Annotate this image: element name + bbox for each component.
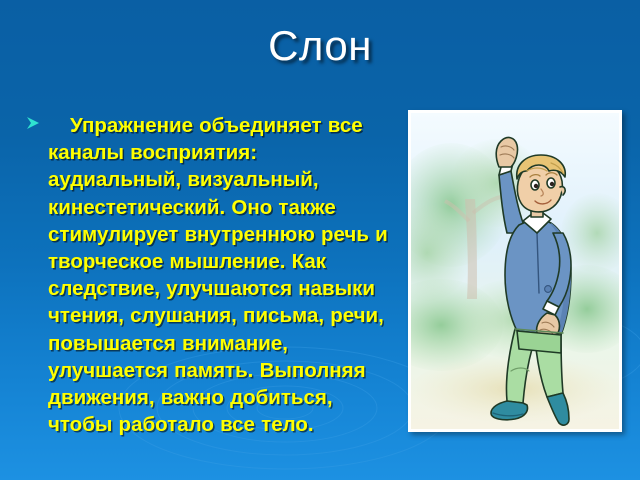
slide-title: Слон	[0, 18, 640, 74]
illustration-boy-raising-arm	[411, 113, 619, 429]
slide-body-text: Упражнение объединяет все каналы восприя…	[48, 112, 394, 438]
bullet-paragraph: Упражнение объединяет все каналы восприя…	[26, 112, 394, 438]
presentation-slide: Слон Упражнение объединяет все каналы во…	[0, 0, 640, 480]
picture-frame	[408, 110, 622, 432]
arrow-chevron-bullet-icon	[26, 116, 48, 130]
